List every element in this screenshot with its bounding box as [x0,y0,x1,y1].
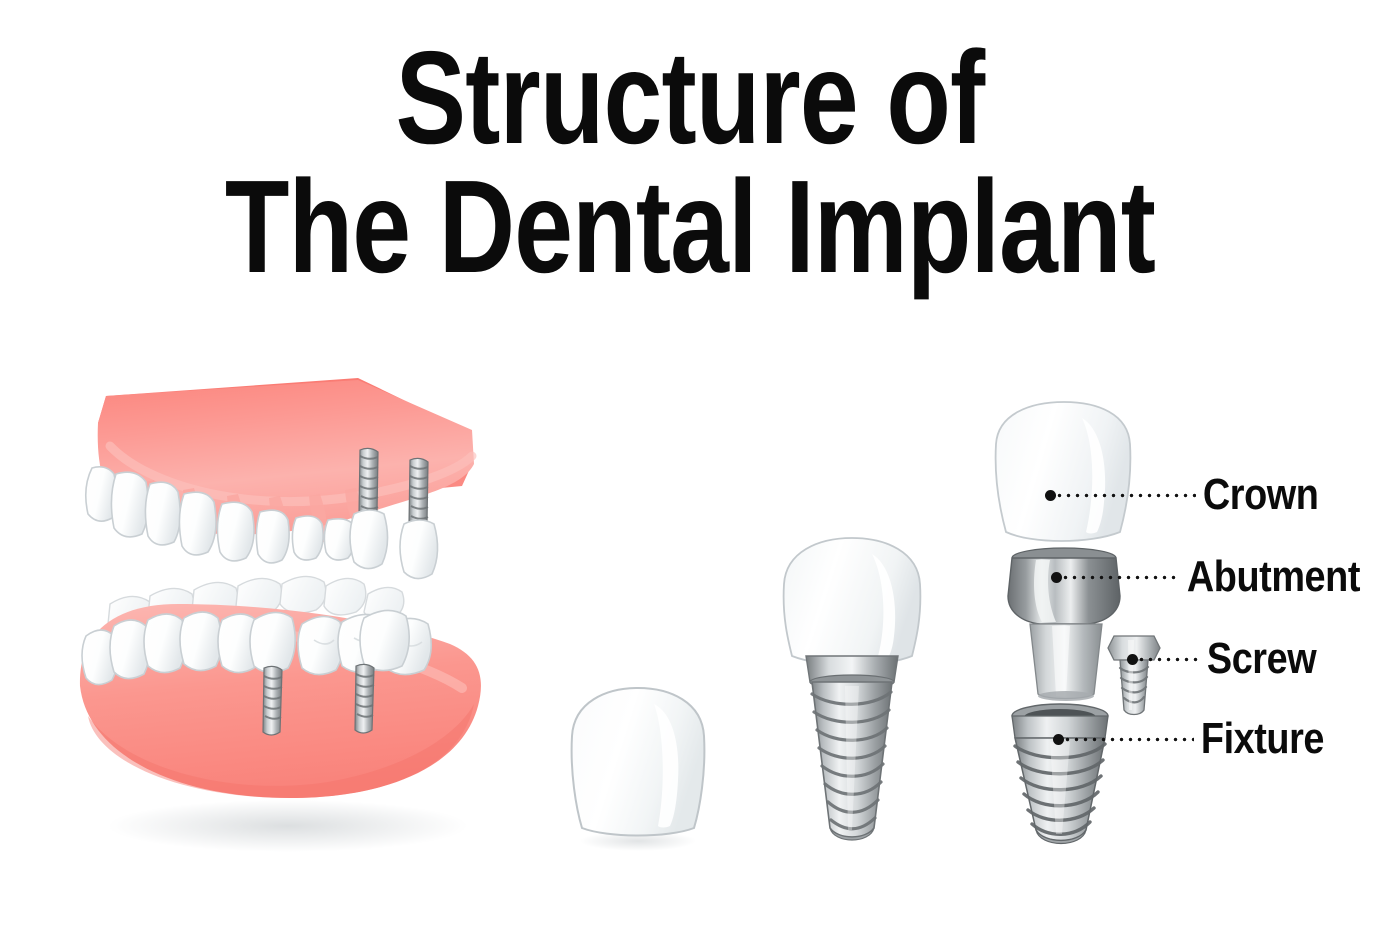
callout-label-fixture: Fixture [1194,717,1324,761]
abutment-post-base [1038,691,1094,701]
callout-label-crown: Crown [1196,473,1318,517]
jaw-ground-shadow [108,800,468,852]
assembled-implant-illustration [762,532,942,852]
upper-arch [86,378,474,579]
lower-implant-screw-1 [263,666,282,735]
callout-label-screw: Screw [1200,637,1316,681]
lower-implant-screw-2 [355,664,374,733]
lower-implant-crown-2 [360,610,409,670]
callout-crown: Crown [1046,468,1338,522]
title-line-1: Structure of [138,34,1242,162]
title-line-2: The Dental Implant [138,162,1242,292]
leader-line-crown [1046,492,1196,499]
exploded-implant-illustration [978,398,1178,853]
single-crown-body [572,688,705,836]
assembled-crown [784,538,921,665]
leader-line-screw [1128,656,1200,663]
lower-arch [80,576,481,798]
single-crown-illustration [548,676,728,856]
callout-label-abutment: Abutment [1180,555,1360,599]
upper-implant-screw-2 [409,458,428,527]
upper-implant-crown-2 [400,520,438,579]
upper-implant-screw-1 [359,448,378,517]
callout-screw: Screw [1128,632,1335,686]
dental-arches-illustration [58,368,498,858]
infographic-canvas: Structure of The Dental Implant [0,0,1380,934]
leader-line-fixture [1054,736,1194,743]
page-title: Structure of The Dental Implant [0,34,1380,292]
leader-line-abutment [1052,574,1180,581]
upper-implant-crown-1 [350,510,388,569]
callout-fixture: Fixture [1054,712,1345,766]
lower-implant-crown-1 [250,612,295,672]
callout-abutment: Abutment [1052,550,1380,604]
